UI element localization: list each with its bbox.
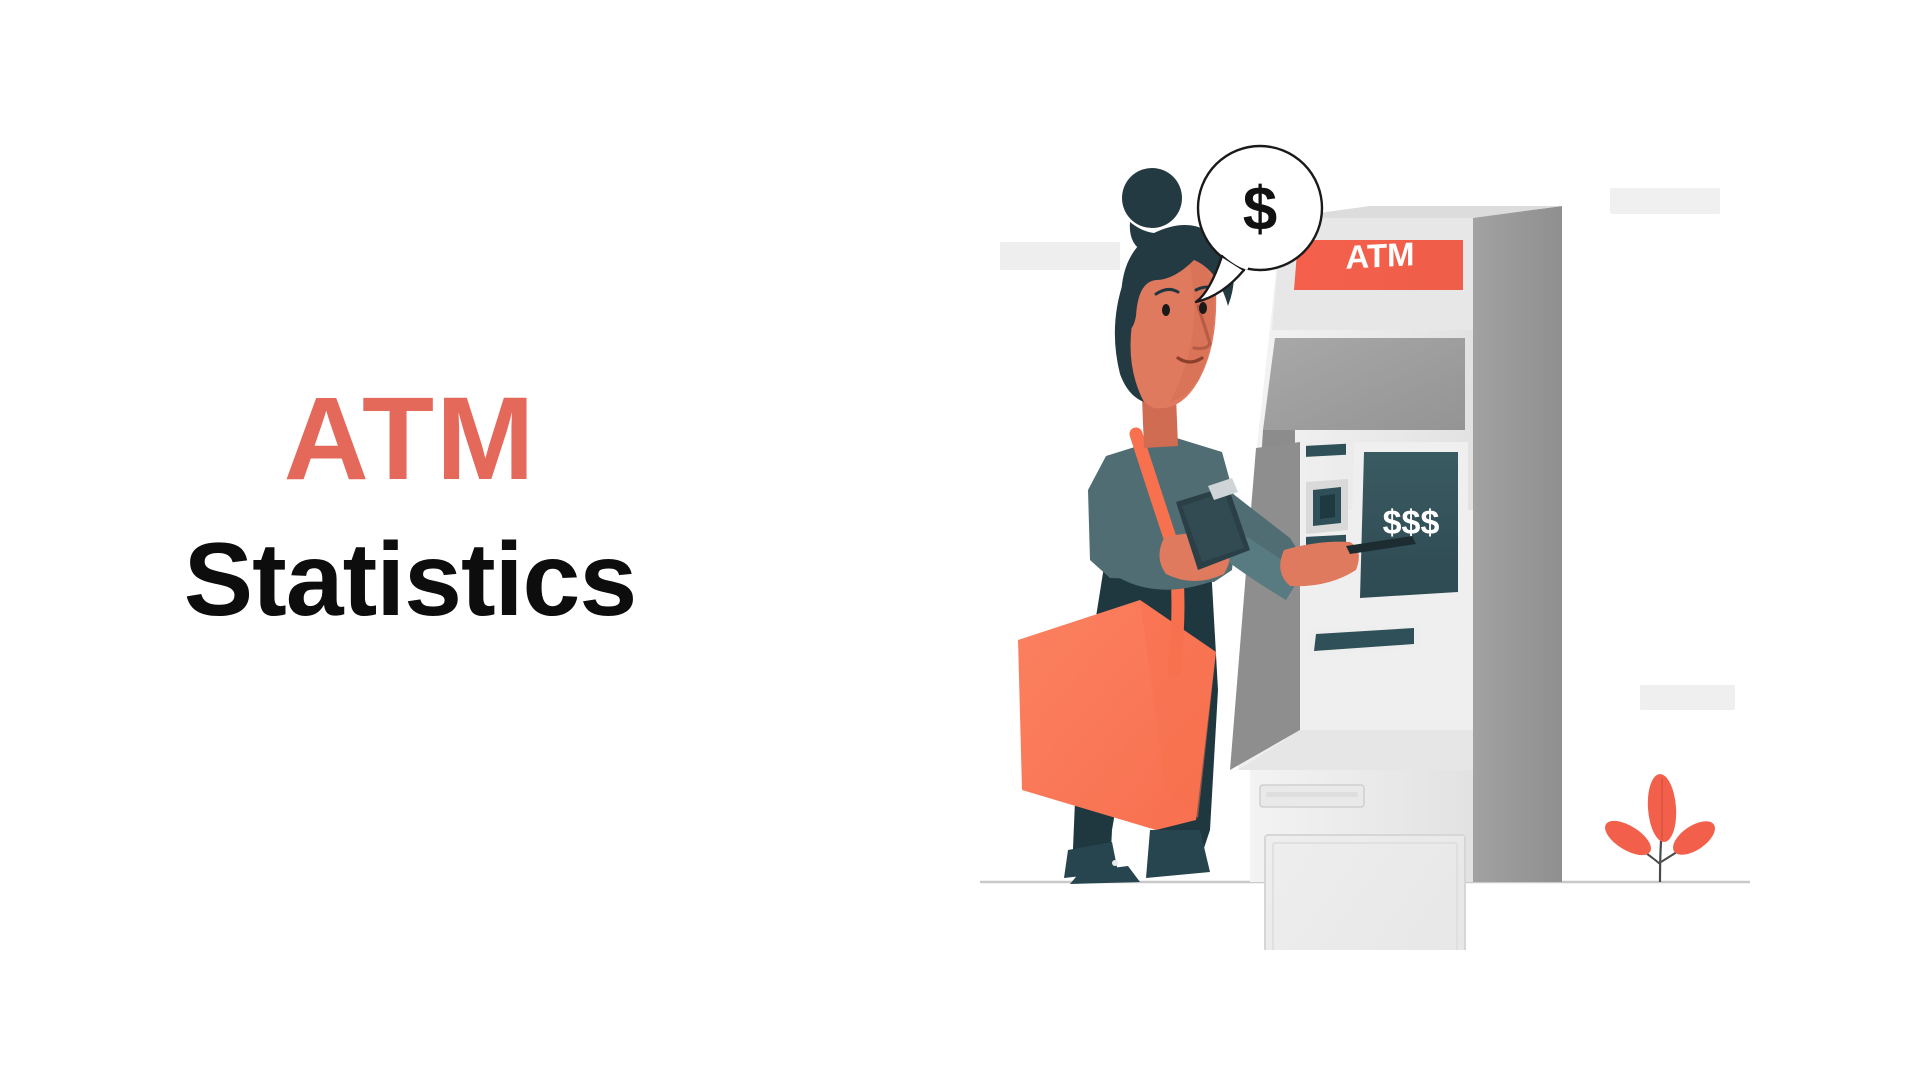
atm-hood-recess xyxy=(1263,338,1465,430)
person-eye-left xyxy=(1162,304,1170,316)
atm-banner-label: ATM xyxy=(1345,235,1414,276)
poster-canvas: ATM Statistics xyxy=(0,0,1920,1080)
atm-console-slope xyxy=(1230,442,1300,770)
atm-card-reader-slot-inner xyxy=(1320,494,1335,519)
decor-block-left xyxy=(1000,242,1120,270)
atm-safe-door xyxy=(1265,835,1465,950)
person-hair-bun xyxy=(1122,168,1182,228)
page-title: ATM Statistics xyxy=(0,380,820,632)
person-eye-right xyxy=(1199,302,1207,314)
decorative-plant xyxy=(1600,773,1721,882)
title-line-atm: ATM xyxy=(0,380,820,498)
speech-bubble-dollar-sign: $ xyxy=(1243,175,1277,244)
atm-cash-dispenser-line xyxy=(1266,792,1358,797)
decor-block-bottom-right xyxy=(1640,685,1735,710)
atm-card-reader-top-strip xyxy=(1306,444,1346,457)
decor-block-top-right xyxy=(1610,188,1720,214)
atm-illustration: ATM $$$ xyxy=(960,130,1860,950)
person-shoe-front2 xyxy=(1146,830,1210,878)
atm-side-panel-main xyxy=(1473,206,1562,882)
person-shoe-detail xyxy=(1112,860,1118,866)
title-line-statistics: Statistics xyxy=(0,528,820,632)
